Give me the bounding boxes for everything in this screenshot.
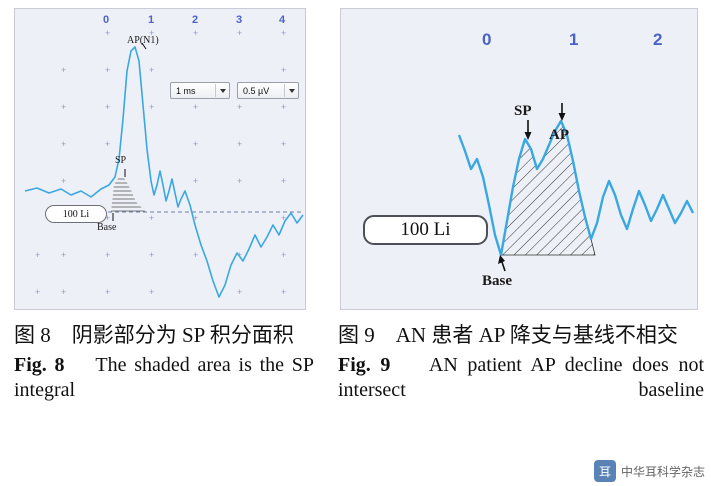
watermark-logo-icon: 耳 xyxy=(594,460,616,482)
grid-cross-marker: + xyxy=(61,251,66,260)
grid-cross-marker: + xyxy=(281,177,286,186)
chevron-down-icon xyxy=(289,89,295,93)
grid-cross-marker: + xyxy=(61,177,66,186)
grid-cross-marker: + xyxy=(149,66,154,75)
fig8-scale-pill[interactable]: 100 Li xyxy=(45,205,107,223)
grid-cross-marker: + xyxy=(193,214,198,223)
grid-cross-marker: + xyxy=(193,251,198,260)
figure-9-plot: 0 1 2 SP AP Base 100 Li xyxy=(341,9,697,309)
grid-cross-marker: + xyxy=(61,66,66,75)
fig9-axis-tick-0: 0 xyxy=(482,31,491,48)
grid-cross-marker: + xyxy=(237,288,242,297)
fig9-label-sp: SP xyxy=(514,104,532,119)
grid-cross-marker: + xyxy=(281,288,286,297)
grid-cross-marker: + xyxy=(105,66,110,75)
fig8-scale-pill-label: 100 Li xyxy=(63,209,89,220)
select-divider xyxy=(215,84,216,97)
watermark: 耳 中华耳科学杂志 xyxy=(594,460,705,482)
fig9-axis-tick-2: 2 xyxy=(653,31,662,48)
fig9-scale-pill-label: 100 Li xyxy=(400,219,450,241)
figure-9-caption: 图 9 AN 患者 AP 降支与基线不相交 Fig. 9 AN patient … xyxy=(338,322,704,404)
grid-cross-marker: + xyxy=(193,29,198,38)
figure-8-plot: 0 1 2 3 4 + + + + + + + + + + + + + + + … xyxy=(15,9,305,309)
grid-cross-marker: + xyxy=(149,251,154,260)
fig8-axis-tick-2: 2 xyxy=(192,15,198,26)
grid-cross-marker: + xyxy=(61,140,66,149)
grid-cross-marker: + xyxy=(237,103,242,112)
figure-9-caption-en-body: AN patient AP decline does not intersect… xyxy=(338,354,704,402)
grid-cross-marker: + xyxy=(149,288,154,297)
fig9-label-base: Base xyxy=(482,274,512,289)
grid-cross-marker: + xyxy=(237,140,242,149)
grid-cross-marker: + xyxy=(281,214,286,223)
figure-9-panel: 0 1 2 SP AP Base 100 Li xyxy=(340,8,698,310)
fig8-axis-tick-3: 3 xyxy=(236,15,242,26)
fig8-label-ap-n1: AP(N1) xyxy=(127,36,159,46)
fig8-label-sp: SP xyxy=(115,156,126,166)
fig8-label-base: Base xyxy=(97,223,116,233)
select-divider xyxy=(284,84,285,97)
grid-cross-marker: + xyxy=(105,29,110,38)
fig8-axis-tick-1: 1 xyxy=(148,15,154,26)
grid-cross-marker: + xyxy=(193,177,198,186)
grid-cross-marker: + xyxy=(237,29,242,38)
grid-cross-marker: + xyxy=(281,251,286,260)
fig9-label-ap: AP xyxy=(549,128,569,143)
grid-cross-marker: + xyxy=(281,103,286,112)
time-base-select[interactable]: 1 ms xyxy=(170,82,230,99)
grid-cross-marker: + xyxy=(35,288,40,297)
grid-cross-marker: + xyxy=(237,177,242,186)
figure-8-panel: 0 1 2 3 4 + + + + + + + + + + + + + + + … xyxy=(14,8,306,310)
figure-9-caption-en-lead: Fig. 9 xyxy=(338,354,390,376)
grid-cross-marker: + xyxy=(149,214,154,223)
grid-cross-marker: + xyxy=(281,140,286,149)
amplitude-select[interactable]: 0.5 µV xyxy=(237,82,299,99)
grid-cross-marker: + xyxy=(149,103,154,112)
grid-cross-marker: + xyxy=(35,251,40,260)
grid-cross-marker: + xyxy=(105,103,110,112)
watermark-text: 中华耳科学杂志 xyxy=(621,463,705,480)
amplitude-value: 0.5 µV xyxy=(243,86,269,96)
figure-9-caption-en: Fig. 9 AN patient AP decline does not in… xyxy=(338,353,704,404)
fig9-axis-tick-1: 1 xyxy=(569,31,578,48)
fig8-axis-tick-0: 0 xyxy=(103,15,109,26)
figure-8-caption-en-lead: Fig. 8 xyxy=(14,354,65,376)
fig9-scale-pill[interactable]: 100 Li xyxy=(363,215,488,245)
grid-cross-marker: + xyxy=(105,288,110,297)
grid-cross-marker: + xyxy=(61,288,66,297)
grid-cross-marker: + xyxy=(237,251,242,260)
grid-cross-marker: + xyxy=(193,140,198,149)
page-root: 0 1 2 3 4 + + + + + + + + + + + + + + + … xyxy=(0,0,711,486)
figure-8-caption-cn: 图 8 阴影部分为 SP 积分面积 xyxy=(14,322,314,349)
grid-cross-marker: + xyxy=(281,66,286,75)
time-base-value: 1 ms xyxy=(176,86,196,96)
grid-cross-marker: + xyxy=(193,103,198,112)
figure-9-caption-cn: 图 9 AN 患者 AP 降支与基线不相交 xyxy=(338,322,704,349)
grid-cross-marker: + xyxy=(281,29,286,38)
grid-cross-marker: + xyxy=(105,251,110,260)
figure-8-caption: 图 8 阴影部分为 SP 积分面积 Fig. 8 The shaded area… xyxy=(14,322,314,404)
figure-9-svg xyxy=(341,9,697,309)
chevron-down-icon xyxy=(220,89,226,93)
grid-cross-marker: + xyxy=(61,103,66,112)
figure-8-svg xyxy=(15,9,305,309)
grid-cross-marker: + xyxy=(105,140,110,149)
fig8-axis-tick-4: 4 xyxy=(279,15,285,26)
figure-8-caption-en: Fig. 8 The shaded area is the SP integra… xyxy=(14,353,314,404)
